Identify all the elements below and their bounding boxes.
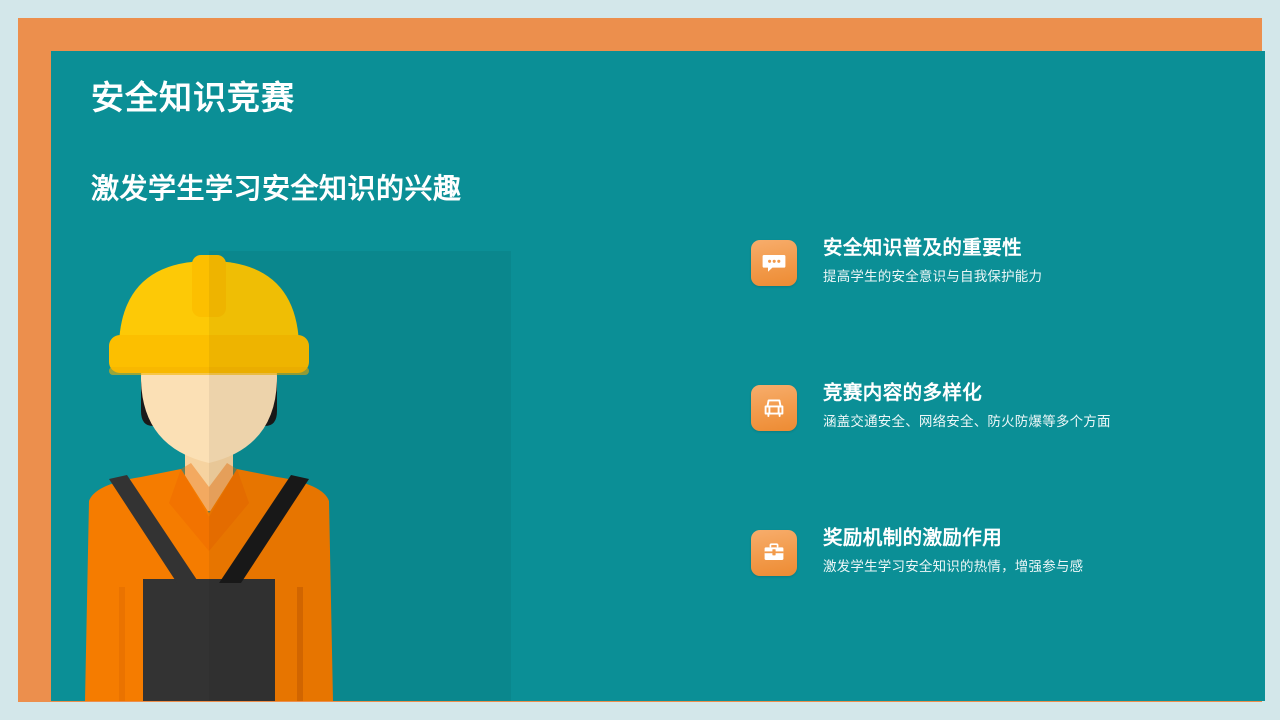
- page-subtitle: 激发学生学习安全知识的兴趣: [91, 167, 462, 207]
- feature-text-2: 竞赛内容的多样化 涵盖交通安全、网络安全、防火防爆等多个方面: [823, 381, 1111, 431]
- feature-description: 提高学生的安全意识与自我保护能力: [823, 268, 1042, 286]
- slide-frame-border: 安全知识竞赛 激发学生学习安全知识的兴趣: [18, 18, 1262, 702]
- feature-item-1[interactable]: 安全知识普及的重要性 提高学生的安全意识与自我保护能力: [751, 236, 1241, 292]
- feature-item-3[interactable]: 奖励机制的激励作用 激发学生学习安全知识的热情，增强参与感: [751, 526, 1241, 582]
- feature-heading: 奖励机制的激励作用: [823, 526, 1083, 550]
- feature-description: 涵盖交通安全、网络安全、防火防爆等多个方面: [823, 413, 1111, 431]
- armchair-icon: [751, 385, 797, 431]
- toolbox-icon: [751, 530, 797, 576]
- feature-heading: 竞赛内容的多样化: [823, 381, 1111, 405]
- feature-item-2[interactable]: 竞赛内容的多样化 涵盖交通安全、网络安全、防火防爆等多个方面: [751, 381, 1241, 437]
- construction-worker-illustration: [81, 251, 511, 701]
- slide-canvas: 安全知识竞赛 激发学生学习安全知识的兴趣: [0, 0, 1280, 720]
- feature-text-3: 奖励机制的激励作用 激发学生学习安全知识的热情，增强参与感: [823, 526, 1083, 576]
- feature-list: 安全知识普及的重要性 提高学生的安全意识与自我保护能力: [751, 236, 1241, 582]
- feature-description: 激发学生学习安全知识的热情，增强参与感: [823, 558, 1083, 576]
- feature-heading: 安全知识普及的重要性: [823, 236, 1042, 260]
- feature-text-1: 安全知识普及的重要性 提高学生的安全意识与自我保护能力: [823, 236, 1042, 286]
- page-title: 安全知识竞赛: [91, 71, 295, 119]
- chat-bubble-icon: [751, 240, 797, 286]
- slide-content-panel: 安全知识竞赛 激发学生学习安全知识的兴趣: [51, 51, 1265, 701]
